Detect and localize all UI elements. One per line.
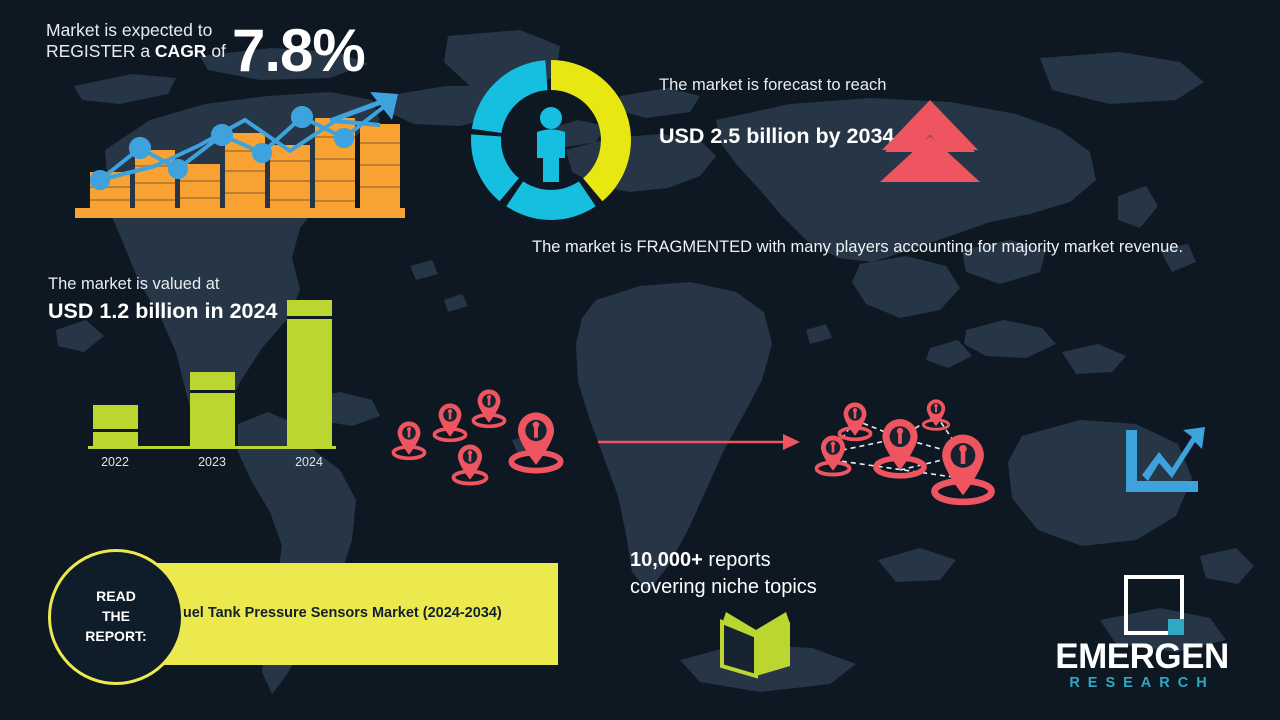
- logo-subtitle: RESEARCH: [1018, 675, 1266, 691]
- cta-line-3: REPORT:: [85, 627, 146, 647]
- infographic-canvas: Market is expected to REGISTER a CAGR of…: [0, 0, 1280, 720]
- read-the-report-label: READ THE REPORT:: [85, 587, 146, 647]
- cta-line-2: THE: [85, 607, 146, 627]
- logo-corner-accent-icon: [1168, 619, 1184, 635]
- report-title: Fuel Tank Pressure Sensors Market (2024-…: [174, 605, 502, 621]
- read-the-report-badge[interactable]: READ THE REPORT:: [48, 549, 184, 685]
- emergen-research-logo: EMERGEN RESEARCH: [1018, 575, 1266, 700]
- logo-name: EMERGEN: [1018, 637, 1266, 677]
- cta-line-1: READ: [85, 587, 146, 607]
